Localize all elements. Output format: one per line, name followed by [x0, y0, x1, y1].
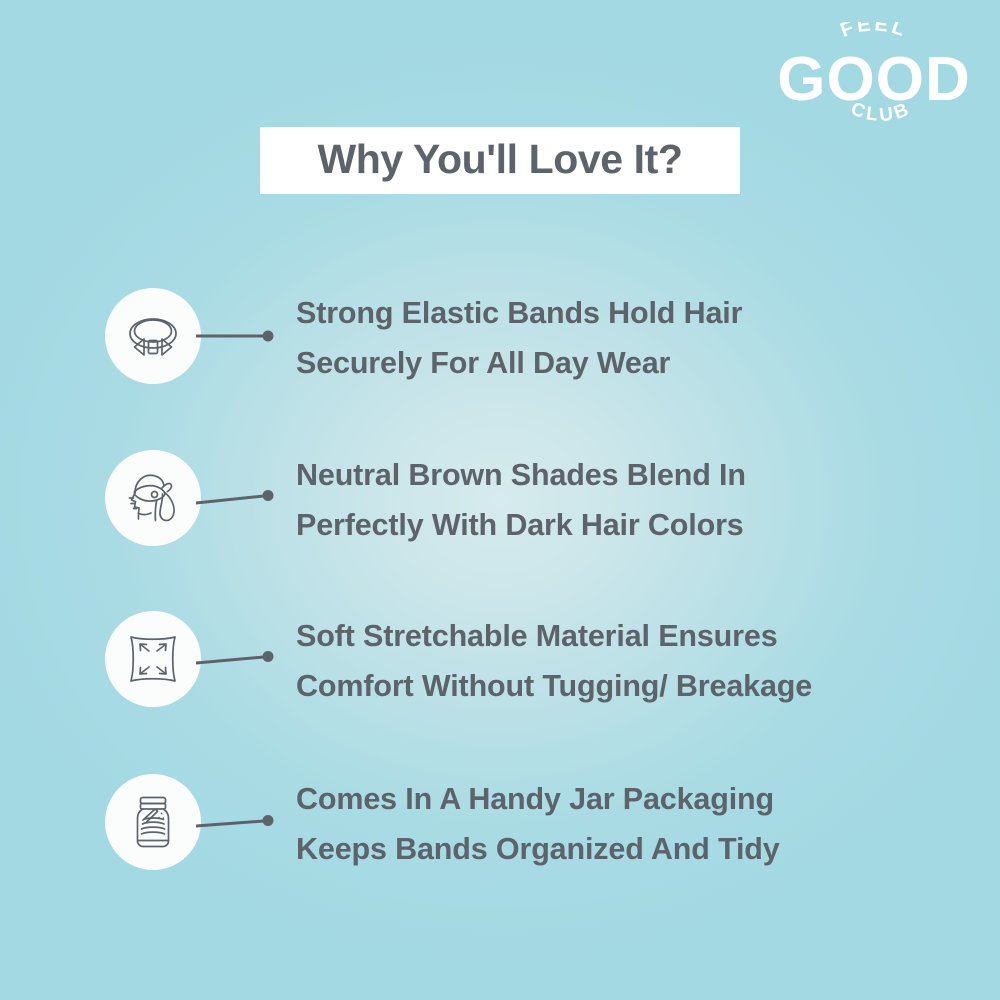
jar-of-bands-icon: [122, 791, 184, 853]
feature-icon-badge: [105, 450, 201, 546]
feature-text-line: Perfectly With Dark Hair Colors: [296, 500, 956, 550]
logo-feel-text: FEEL: [838, 22, 911, 42]
feature-text-line: Neutral Brown Shades Blend In: [296, 450, 956, 500]
brand-logo: FEEL GOOD CLUB: [768, 22, 980, 130]
feature-text-line: Keeps Bands Organized And Tidy: [296, 824, 956, 874]
feature-text: Comes In A Handy Jar Packaging Keeps Ban…: [296, 774, 956, 874]
feature-connector: [196, 288, 286, 384]
feature-text: Soft Stretchable Material Ensures Comfor…: [296, 611, 956, 711]
feature-icon-badge: [105, 611, 201, 707]
woman-headband-ponytail-icon: [122, 467, 184, 529]
feature-text: Strong Elastic Bands Hold Hair Securely …: [296, 288, 956, 388]
feature-connector: [196, 611, 286, 707]
svg-text:FEEL: FEEL: [838, 22, 911, 42]
feature-text: Neutral Brown Shades Blend In Perfectly …: [296, 450, 956, 550]
feature-connector: [196, 774, 286, 870]
stretch-fabric-arrows-icon: [122, 628, 184, 690]
feature-icon-badge: [105, 288, 201, 384]
logo-good-text: GOOD: [777, 45, 970, 114]
feature-row: Soft Stretchable Material Ensures Comfor…: [0, 611, 1000, 711]
feature-text-line: Comfort Without Tugging/ Breakage: [296, 661, 956, 711]
feature-connector: [196, 450, 286, 546]
feature-row: Comes In A Handy Jar Packaging Keeps Ban…: [0, 774, 1000, 874]
poster-canvas: FEEL GOOD CLUB Why You'll Love It?: [0, 0, 1000, 1000]
feature-text-line: Securely For All Day Wear: [296, 338, 956, 388]
feature-icon-badge: [105, 774, 201, 870]
page-title: Why You'll Love It?: [317, 139, 682, 180]
feature-text-line: Comes In A Handy Jar Packaging: [296, 774, 956, 824]
feature-row: Neutral Brown Shades Blend In Perfectly …: [0, 450, 1000, 550]
feature-row: Strong Elastic Bands Hold Hair Securely …: [0, 288, 1000, 388]
hair-tie-bow-icon: [122, 305, 184, 367]
heading-band: Why You'll Love It?: [260, 127, 740, 194]
feature-text-line: Soft Stretchable Material Ensures: [296, 611, 956, 661]
feature-text-line: Strong Elastic Bands Hold Hair: [296, 288, 956, 338]
